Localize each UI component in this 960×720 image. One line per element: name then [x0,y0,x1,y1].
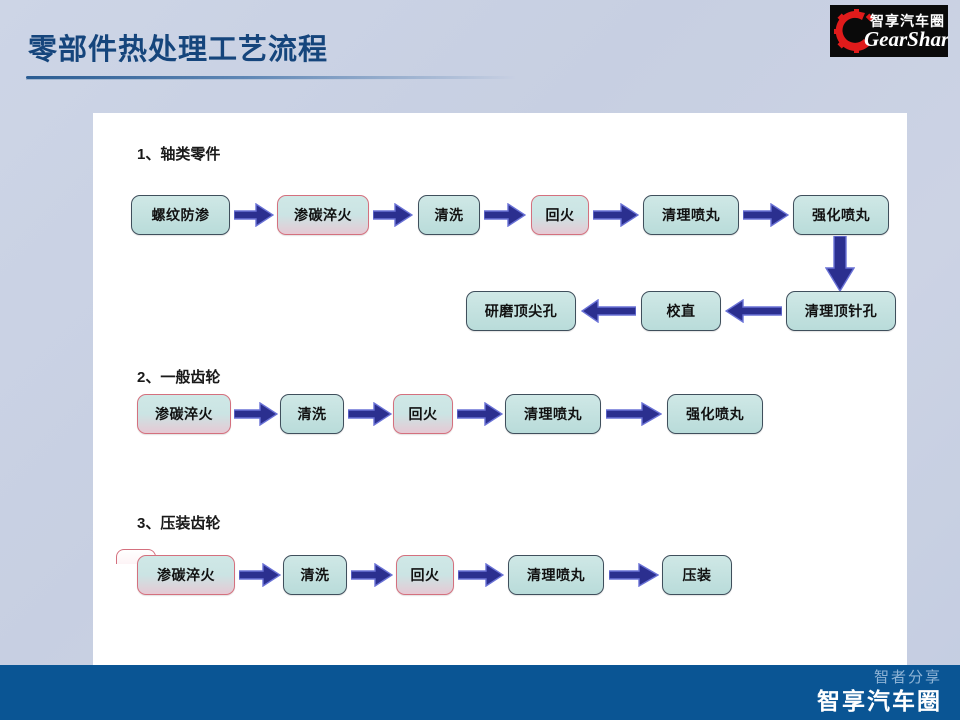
node-qing-xi-2[interactable]: 清洗 [280,394,344,434]
arrow-left-1-2 [725,299,782,323]
node-shen-tan-cui-huo-3[interactable]: 渗碳淬火 [137,555,235,595]
node-luo-wen-fang-shen[interactable]: 螺纹防渗 [131,195,230,235]
arrow-right-1-1 [234,203,274,227]
brand-logo: 智享汽车圈 GearShare [830,5,948,57]
arrow-right-2-2 [348,402,392,426]
arrow-right-3-4 [609,563,659,587]
node-qing-li-ding-zhen-kong[interactable]: 清理顶针孔 [786,291,896,331]
node-qing-xi-3[interactable]: 清洗 [283,555,347,595]
node-qing-li-pen-wan-3[interactable]: 清理喷丸 [508,555,604,595]
title-divider-secondary [26,79,426,80]
node-qiang-hua-pen-wan-1[interactable]: 强化喷丸 [793,195,889,235]
arrow-right-3-2 [351,563,393,587]
arrow-right-1-2 [373,203,413,227]
logo-en-text: GearShare [864,27,948,52]
arrow-right-3-1 [239,563,281,587]
arrow-right-2-3 [457,402,503,426]
node-jiao-zhi[interactable]: 校直 [641,291,721,331]
node-qing-li-pen-wan-2[interactable]: 清理喷丸 [505,394,601,434]
arrow-right-1-5 [743,203,789,227]
node-shen-tan-cui-huo-1[interactable]: 渗碳淬火 [277,195,369,235]
footer-band-left [0,665,268,720]
node-hui-huo-2[interactable]: 回火 [393,394,453,434]
node-qiang-hua-pen-wan-2[interactable]: 强化喷丸 [667,394,763,434]
arrow-right-1-4 [593,203,639,227]
node-yan-mo-ding-jian-kong[interactable]: 研磨顶尖孔 [466,291,576,331]
arrow-right-2-1 [234,402,278,426]
node-ya-zhuang[interactable]: 压装 [662,555,732,595]
arrow-down-1-1 [825,236,855,292]
arrow-right-1-3 [484,203,526,227]
node-qing-li-pen-wan-1[interactable]: 清理喷丸 [643,195,739,235]
node-qing-xi-1[interactable]: 清洗 [418,195,480,235]
section-heading-3: 3、压装齿轮 [137,512,220,533]
node-shen-tan-cui-huo-2[interactable]: 渗碳淬火 [137,394,231,434]
page-title: 零部件热处理工艺流程 [28,26,328,68]
arrow-right-2-4 [606,402,662,426]
arrow-right-3-3 [458,563,504,587]
node-hui-huo-3[interactable]: 回火 [396,555,454,595]
section-heading-1: 1、轴类零件 [137,143,220,164]
arrow-left-1-1 [581,299,636,323]
section-heading-2: 2、一般齿轮 [137,366,220,387]
footer-brand: 智享汽车圈 [817,682,942,716]
node-hui-huo-1[interactable]: 回火 [531,195,589,235]
